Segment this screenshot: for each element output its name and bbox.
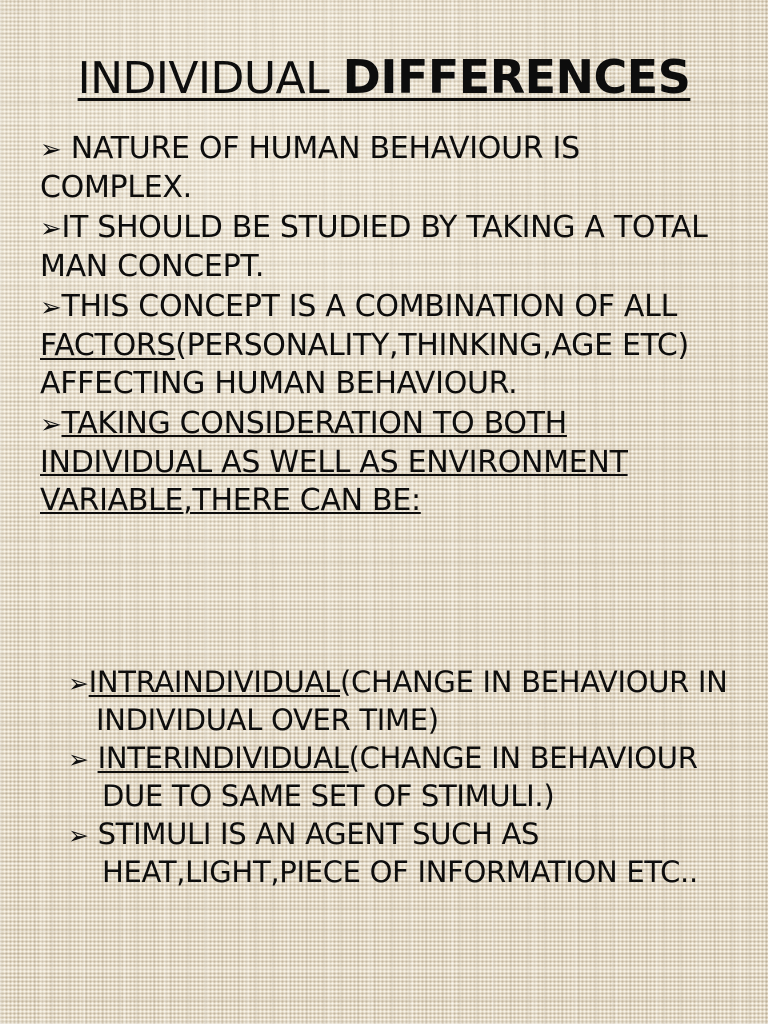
bullet-arrow-icon: ➢ — [68, 745, 89, 774]
bullet-total-man-concept: ➢IT SHOULD BE STUDIED BY TAKING A TOTAL … — [40, 209, 732, 286]
bullet-text: NATURE OF HUMAN BEHAVIOUR IS COMPLEX. — [40, 131, 580, 205]
bullet-arrow-icon: ➢ — [68, 821, 89, 850]
bullet-lead-space — [62, 131, 71, 166]
bullet-arrow-icon: ➢ — [40, 135, 62, 165]
bullet-taking-consideration: ➢TAKING CONSIDERATION TO BOTH INDIVIDUAL… — [40, 405, 732, 520]
slide-title-text: INDIVIDUAL DIFFERENCES — [78, 53, 691, 104]
bullet-arrow-icon: ➢ — [40, 410, 62, 440]
sub-bullet-stimuli-definition: ➢ STIMULI IS AN AGENT SUCH AS HEAT,LIGHT… — [68, 816, 732, 891]
bullet-text-emphasis-factors: FACTORS — [40, 328, 175, 363]
sub-bullet-lead-space — [89, 817, 98, 851]
bullet-text: IT SHOULD BE STUDIED BY TAKING A TOTAL M… — [40, 210, 708, 284]
slide-title-part2: DIFFERENCES — [343, 50, 691, 104]
slide-title-part1: INDIVIDUAL — [78, 53, 343, 104]
presentation-slide: INDIVIDUAL DIFFERENCES ➢ NATURE OF HUMAN… — [0, 0, 768, 1024]
bullet-text: TAKING CONSIDERATION TO BOTH INDIVIDUAL … — [40, 406, 628, 518]
sub-bullet-list: ➢INTRAINDIVIDUAL(CHANGE IN BEHAVIOUR IN … — [68, 664, 732, 892]
sub-bullet-term: INTRAINDIVIDUAL — [89, 665, 340, 699]
bullet-text-before: THIS CONCEPT IS A COMBINATION OF ALL — [62, 289, 677, 324]
sub-bullet-intraindividual: ➢INTRAINDIVIDUAL(CHANGE IN BEHAVIOUR IN … — [68, 664, 732, 739]
sub-bullet-interindividual: ➢ INTERINDIVIDUAL(CHANGE IN BEHAVIOUR DU… — [68, 740, 732, 815]
sub-bullet-definition: STIMULI IS AN AGENT SUCH AS HEAT,LIGHT,P… — [98, 817, 698, 889]
sub-bullet-term: INTERINDIVIDUAL — [98, 741, 349, 775]
sub-bullet-lead-space — [89, 741, 98, 775]
bullet-arrow-icon: ➢ — [40, 293, 62, 323]
bullet-arrow-icon: ➢ — [68, 669, 89, 698]
slide-title: INDIVIDUAL DIFFERENCES — [0, 50, 768, 106]
main-bullet-list: ➢ NATURE OF HUMAN BEHAVIOUR IS COMPLEX. … — [40, 130, 732, 522]
bullet-nature-of-human-behaviour: ➢ NATURE OF HUMAN BEHAVIOUR IS COMPLEX. — [40, 130, 732, 207]
bullet-arrow-icon: ➢ — [40, 214, 62, 244]
bullet-combination-of-factors: ➢THIS CONCEPT IS A COMBINATION OF ALL FA… — [40, 288, 732, 403]
slide-content: INDIVIDUAL DIFFERENCES ➢ NATURE OF HUMAN… — [0, 0, 768, 1024]
